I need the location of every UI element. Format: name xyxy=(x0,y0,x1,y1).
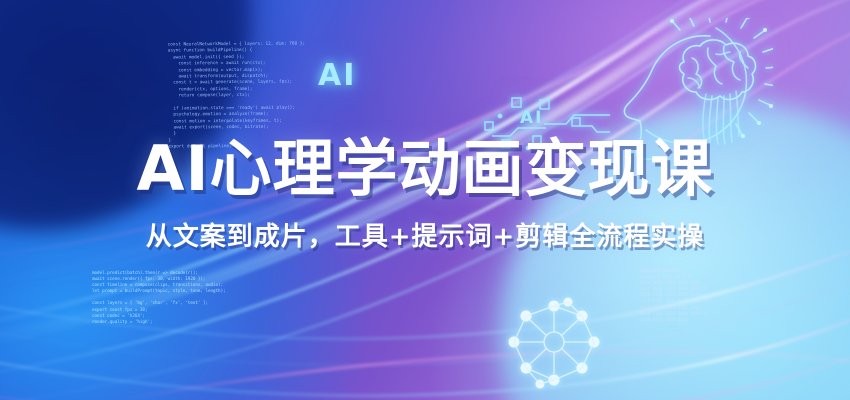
vignette-overlay xyxy=(0,0,850,400)
course-banner: const NeuralNetworkModel = { layers: 12,… xyxy=(0,0,850,400)
